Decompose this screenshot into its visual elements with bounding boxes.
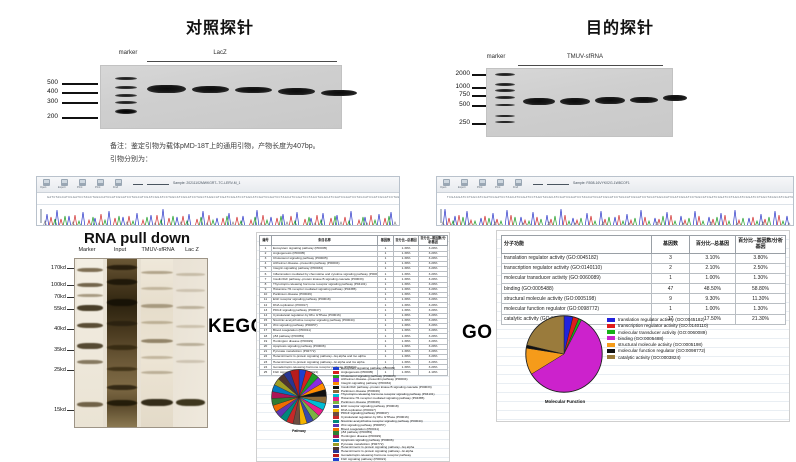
legend-item: translation regulator activity (GO:00451…: [607, 317, 785, 322]
target-marker-label: marker: [476, 54, 516, 60]
caption-line-2: 引物分别为：: [110, 153, 530, 166]
kegg-th-0: 编号: [260, 236, 272, 246]
toolbar-print-label: Print: [477, 186, 482, 189]
legend-swatch: [607, 318, 615, 322]
go-cell: 1.30%: [736, 273, 786, 283]
legend-label: structural molecule activity (GO:0005198…: [618, 342, 703, 347]
gel-lane-lacz: [176, 259, 205, 427]
gel-lane-marker: [77, 259, 103, 427]
table-row: binding (GO:0005488)4748.50%58.80%: [502, 284, 786, 294]
caption-line-1: 备注：鉴定引物为载体pMD-18T上的通用引物，产物长度为407bp。: [110, 140, 530, 153]
target-ladder-500: 500: [444, 101, 470, 108]
rna-pulldown-panel: RNA pull down Marker Input TMUV-sfRNA La…: [50, 228, 220, 460]
go-cell: 11.30%: [736, 294, 786, 304]
chromatogram-left-ruler: GATCTAGCATCGGATCCTAGCTAGGCATCGATCGGATCCT…: [37, 193, 399, 205]
kegg-pie-chart: [271, 369, 327, 425]
toolbar-print2-label: Print: [495, 186, 500, 189]
go-cell: 58.80%: [736, 284, 786, 294]
export-icon[interactable]: [61, 179, 68, 186]
legend-item: catalytic activity (GO:0003824): [607, 355, 785, 360]
chromatogram-right-toolbar[interactable]: Open Export Print Print Find Sample: R50…: [437, 177, 793, 193]
kd-40: 40kd: [36, 326, 66, 332]
legend-item: FGF signaling pathway (P00021): [333, 458, 447, 461]
legend-swatch: [333, 367, 339, 370]
go-cell: 2.10%: [690, 263, 736, 273]
go-th-1: 基因数: [652, 236, 690, 254]
chromatogram-left-basecalls: GATCTAGCATCGGATCCTAGCTAGGCATCGATCGGATCCT…: [47, 196, 399, 202]
legend-swatch: [333, 428, 339, 431]
control-sample-label: LacZ: [200, 50, 240, 56]
find-icon[interactable]: [115, 179, 122, 186]
go-pie-svg: [525, 315, 603, 393]
go-cell: 1.00%: [690, 273, 736, 283]
legend-label: molecular transducer activity (GO:006008…: [618, 330, 707, 335]
toolbar-open-label: Open: [440, 186, 446, 189]
legend-swatch: [333, 447, 339, 450]
go-cell: 48.50%: [690, 284, 736, 294]
control-ladder-200: 200: [30, 113, 58, 120]
gel-caption: 备注：鉴定引物为载体pMD-18T上的通用引物，产物长度为407bp。 引物分别…: [110, 140, 530, 167]
legend-swatch: [333, 420, 339, 423]
legend-swatch: [333, 371, 339, 374]
legend-item: transcription regulator activity (GO:014…: [607, 323, 785, 328]
legend-label: molecular function regulator (GO:0098772…: [618, 348, 705, 353]
go-cell: structural molecule activity (GO:0005198…: [502, 294, 652, 304]
target-sample-label: TMUV-sfRNA: [550, 54, 620, 60]
legend-swatch: [607, 343, 615, 347]
control-lane-rule: [147, 61, 337, 62]
pulldown-gel-box: [74, 258, 208, 428]
go-cell: transcription regulator activity (GO:014…: [502, 263, 652, 273]
legend-swatch: [333, 382, 339, 385]
go-pie-caption: Molecular Function: [509, 399, 621, 404]
legend-swatch: [333, 405, 339, 408]
kegg-table: 编号 条目名称 基因数 百分比--总基因 百分比--基因数/分析基因 1Ecos…: [259, 235, 448, 376]
go-table-header-row: 分子功能 基因数 百分比--总基因 百分比--基因数/分析基因: [502, 236, 786, 254]
legend-swatch: [333, 416, 339, 419]
legend-swatch: [333, 378, 339, 381]
chromatogram-right-sample: Sample: R508-16VYK02G-1W8COF1: [573, 181, 630, 185]
go-cell: 2: [652, 263, 690, 273]
go-cell: 9: [652, 294, 690, 304]
legend-swatch: [607, 336, 615, 340]
legend-label: translation regulator activity (GO:00451…: [618, 317, 705, 322]
kd-170: 170kd: [36, 265, 66, 271]
pulldown-title: RNA pull down: [84, 230, 190, 247]
legend-swatch: [333, 431, 339, 434]
kd-15: 15kd: [36, 407, 66, 413]
legend-swatch: [333, 390, 339, 393]
kd-35: 35kd: [36, 347, 66, 353]
control-marker-label: marker: [108, 50, 148, 56]
go-cell: 2.50%: [736, 263, 786, 273]
go-cell: 1.00%: [690, 304, 736, 314]
toolbar-print2-label: Print: [95, 186, 100, 189]
go-analysis-panel[interactable]: 分子功能 基因数 百分比--总基因 百分比--基因数/分析基因 translat…: [496, 230, 790, 422]
kegg-cell: 25: [260, 370, 272, 375]
chromatogram-left-toolbar[interactable]: Open Export Print Print Find Sample: 202…: [37, 177, 399, 193]
toolbar-find-label: Find: [513, 186, 518, 189]
control-gel-box: [100, 65, 342, 129]
pulldown-lane-tmuv: TMUV-sfRNA: [136, 247, 180, 253]
go-cell: 3: [652, 253, 690, 263]
legend-swatch: [333, 443, 339, 446]
legend-swatch: [333, 397, 339, 400]
kd-70: 70kd: [36, 294, 66, 300]
chromatogram-left-sample: Sample: 20211102MWKGRT--TC-LERV-M_1: [173, 181, 240, 185]
chromatogram-left-yaxis: [40, 209, 42, 223]
legend-swatch: [333, 424, 339, 427]
print-icon[interactable]: [79, 179, 86, 186]
table-row: molecular function regulator (GO:0098772…: [502, 304, 786, 314]
toolbar-open-label: Open: [40, 186, 46, 189]
go-legend: translation regulator activity (GO:00451…: [607, 317, 785, 361]
table-row: transcription regulator activity (GO:014…: [502, 263, 786, 273]
toolbar-export-label: Export: [58, 186, 66, 189]
legend-swatch: [607, 355, 615, 359]
toolbar-divider-2: [147, 184, 169, 185]
legend-swatch: [333, 386, 339, 389]
pulldown-lane-marker: Marker: [72, 247, 102, 253]
legend-swatch: [333, 454, 339, 457]
go-th-2: 百分比--总基因: [690, 236, 736, 254]
table-row: structural molecule activity (GO:0005198…: [502, 294, 786, 304]
legend-swatch: [607, 349, 615, 353]
go-label: GO: [462, 322, 493, 344]
table-row: molecular transducer activity (GO:006008…: [502, 273, 786, 283]
go-cell: 1: [652, 273, 690, 283]
legend-swatch: [607, 330, 615, 334]
kegg-table-header-row: 编号 条目名称 基因数 百分比--总基因 百分比--基因数/分析基因: [260, 236, 448, 246]
control-probe-panel: 对照探针 marker LacZ 500 400 300 200: [0, 0, 440, 140]
go-cell: 3.10%: [690, 253, 736, 263]
go-cell: 1.30%: [736, 304, 786, 314]
legend-swatch: [333, 412, 339, 415]
kegg-th-4: 百分比--基因数/分析基因: [419, 236, 448, 246]
go-cell: binding (GO:0005488): [502, 284, 652, 294]
target-ladder-750: 750: [444, 91, 470, 98]
control-ladder-500: 500: [30, 79, 58, 86]
chromatogram-right-ruler: TCGAGGATCCTAGCATCGATCGGATCCTAGCATCGGATCC…: [437, 193, 793, 205]
table-row: translation regulator activity (GO:00451…: [502, 253, 786, 263]
go-cell: molecular transducer activity (GO:006008…: [502, 273, 652, 283]
target-gel-image: marker TMUV-sfRNA 2000 1000 750 500 2: [440, 0, 796, 150]
go-th-0: 分子功能: [502, 236, 652, 254]
target-ladder-250: 250: [444, 119, 470, 126]
target-lane-rule: [518, 65, 663, 66]
kegg-th-1: 条目名称: [272, 236, 378, 246]
pulldown-lane-lacz: Lac Z: [178, 247, 206, 253]
go-cell: molecular function regulator (GO:0098772…: [502, 304, 652, 314]
legend-swatch: [333, 450, 339, 453]
kegg-legend: Ecosystem signaling pathway (P00005)Angi…: [333, 367, 447, 462]
kegg-th-2: 基因数: [378, 236, 394, 246]
legend-item: binding (GO:0005488): [607, 336, 785, 341]
target-gel-box: [486, 68, 673, 137]
gel-lane-input: [107, 259, 137, 427]
legend-swatch: [333, 375, 339, 378]
legend-label: catalytic activity (GO:0003824): [618, 355, 681, 360]
legend-swatch: [333, 394, 339, 397]
go-table: 分子功能 基因数 百分比--总基因 百分比--基因数/分析基因 translat…: [501, 235, 786, 325]
kd-55: 55kd: [36, 306, 66, 312]
legend-label: transcription regulator activity (GO:014…: [618, 323, 708, 328]
go-pie-chart: [525, 315, 603, 393]
export-icon[interactable]: [461, 179, 468, 186]
legend-swatch: [607, 324, 615, 328]
kd-100: 100kd: [36, 282, 66, 288]
chromatogram-right-basecalls: TCGAGGATCCTAGCATCGATCGGATCCTAGCATCGGATCC…: [447, 196, 793, 202]
legend-swatch: [333, 439, 339, 442]
pulldown-lane-input: Input: [107, 247, 133, 253]
open-icon[interactable]: [43, 179, 50, 186]
go-cell: 3.80%: [736, 253, 786, 263]
kegg-pie-caption: Pathway: [263, 429, 335, 433]
go-cell: 47: [652, 284, 690, 294]
chromatogram-left-trace: [37, 205, 399, 226]
target-ladder-1000: 1000: [444, 83, 470, 90]
target-ladder-2000: 2000: [444, 70, 470, 77]
toolbar-divider-2: [547, 184, 569, 185]
legend-label: binding (GO:0005488): [618, 336, 663, 341]
toolbar-find-label: Find: [113, 186, 118, 189]
kegg-th-3: 百分比--总基因: [394, 236, 419, 246]
chromatogram-right-yaxis: [440, 209, 442, 223]
toolbar-print-label: Print: [77, 186, 82, 189]
go-cell: 1: [652, 304, 690, 314]
go-th-3: 百分比--基因数/分析基因: [736, 236, 786, 254]
open-icon[interactable]: [443, 179, 450, 186]
legend-label: FGF signaling pathway (P00021): [341, 458, 386, 461]
chromatogram-right-trace: [437, 205, 793, 226]
kd-25: 25kd: [36, 367, 66, 373]
control-gel-image: marker LacZ 500 400 300 200: [0, 0, 440, 140]
print-icon[interactable]: [479, 179, 486, 186]
kegg-analysis-panel[interactable]: 编号 条目名称 基因数 百分比--总基因 百分比--基因数/分析基因 1Ecos…: [256, 232, 450, 462]
chromatogram-right[interactable]: Open Export Print Print Find Sample: R50…: [436, 176, 794, 226]
toolbar-export-label: Export: [458, 186, 466, 189]
control-ladder-300: 300: [30, 98, 58, 105]
toolbar-divider: [133, 184, 143, 185]
toolbar-divider: [533, 184, 543, 185]
legend-item: molecular function regulator (GO:0098772…: [607, 348, 785, 353]
find-icon[interactable]: [515, 179, 522, 186]
legend-swatch: [333, 409, 339, 412]
legend-swatch: [333, 401, 339, 404]
kegg-pie-svg: [271, 369, 327, 425]
legend-swatch: [333, 435, 339, 438]
target-probe-panel: 目的探针 marker TMUV-sfRNA 2000 1000 750 5: [440, 0, 796, 150]
gel-lane-tmuv: [141, 259, 173, 427]
print-preview-icon[interactable]: [497, 179, 504, 186]
go-cell: translation regulator activity (GO:00451…: [502, 253, 652, 263]
legend-item: molecular transducer activity (GO:006008…: [607, 330, 785, 335]
control-ladder-400: 400: [30, 88, 58, 95]
legend-item: structural molecule activity (GO:0005198…: [607, 342, 785, 347]
chromatogram-left[interactable]: Open Export Print Print Find Sample: 202…: [36, 176, 400, 226]
legend-swatch: [333, 458, 339, 461]
go-cell: 9.30%: [690, 294, 736, 304]
print-preview-icon[interactable]: [97, 179, 104, 186]
